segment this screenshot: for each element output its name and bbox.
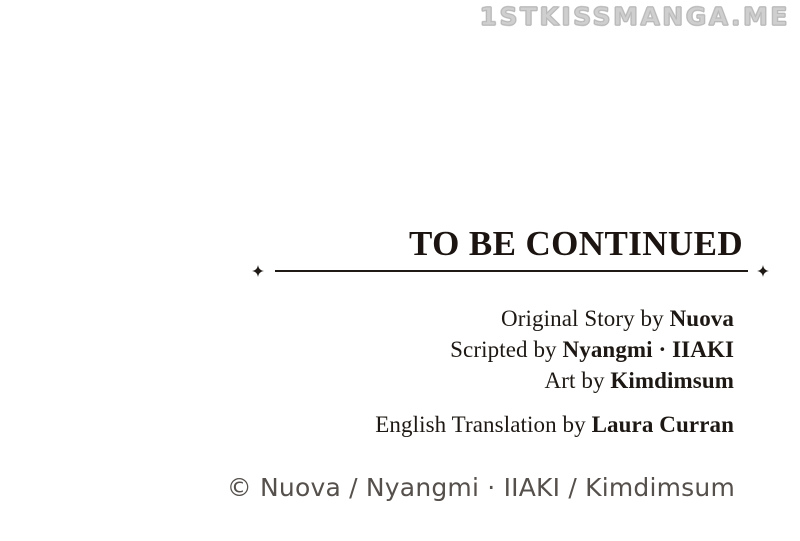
credit-line-script: Scripted by Nyangmi · IIAKI [0,334,734,365]
credit-line-translation: English Translation by Laura Curran [0,409,734,440]
credit-role: Scripted by [450,337,562,362]
to-be-continued-title: TO BE CONTINUED [0,224,743,264]
credit-name: Laura Curran [592,412,734,437]
credit-name: Kimdimsum [610,368,734,393]
credit-role: Art by [545,368,611,393]
manga-end-page: 1STKISSMANGA.ME TO BE CONTINUED Original… [0,0,800,541]
diamond-ornament-left-icon [252,265,264,277]
ornamental-divider [252,263,770,279]
credit-name: Nyangmi · IIAKI [563,337,734,362]
credit-role: Original Story by [501,306,670,331]
credit-role: English Translation by [375,412,591,437]
diamond-ornament-right-icon [757,265,769,277]
credit-line-art: Art by Kimdimsum [0,365,734,396]
end-card: TO BE CONTINUED Original Story by Nuova … [0,0,800,541]
credits-block: Original Story by Nuova Scripted by Nyan… [0,303,734,440]
divider-rule [275,270,748,272]
credit-line-original-story: Original Story by Nuova [0,303,734,334]
copyright-line: © Nuova / Nyangmi · IIAKI / Kimdimsum [0,472,735,504]
credit-name: Nuova [670,306,734,331]
